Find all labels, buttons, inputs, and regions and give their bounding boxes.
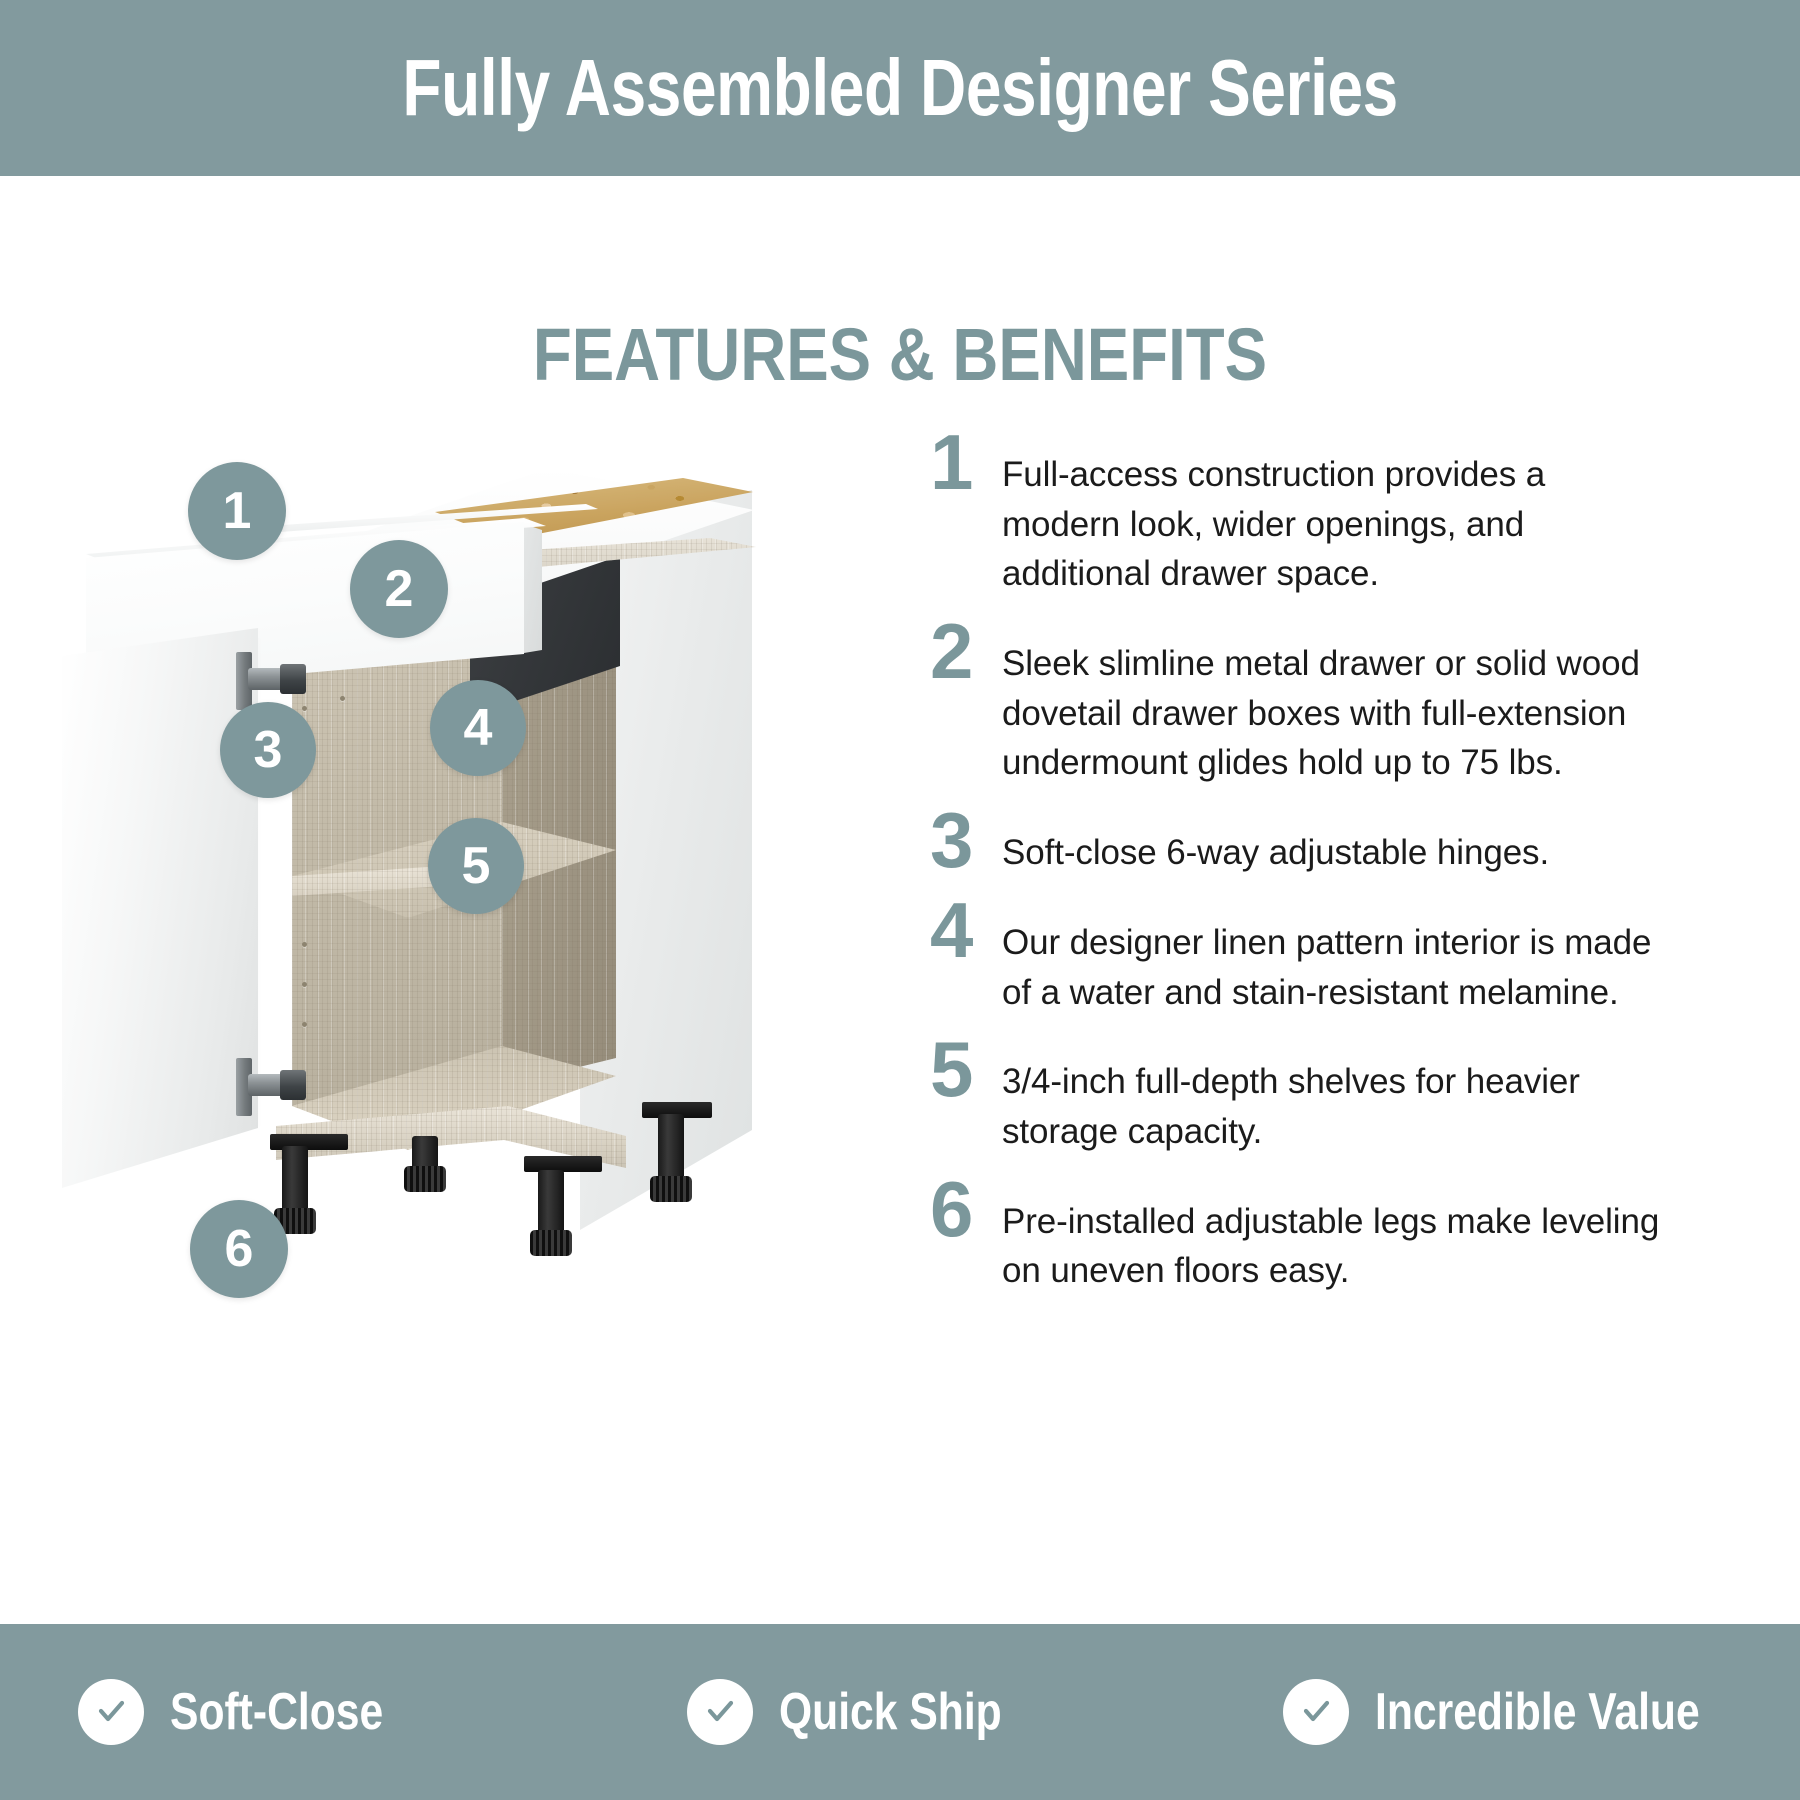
page-title: Fully Assembled Designer Series [402,48,1397,128]
leg-collar [404,1166,446,1192]
hinge-cup [280,1070,306,1100]
feature-number-3: 3 [930,806,1002,875]
feature-item-6: 6 Pre-installed adjustable legs make lev… [930,1179,1670,1296]
callout-badge-4[interactable]: 4 [430,680,526,776]
feature-item-3: 3 Soft-close 6-way adjustable hinges. [930,810,1670,878]
feature-item-5: 5 3/4-inch full-depth shelves for heavie… [930,1039,1670,1156]
footer-bar: Soft-Close Quick Ship Incredible Value [0,1624,1800,1800]
feature-item-1: 1 Full-access construction provides a mo… [930,432,1670,599]
feature-text-5: 3/4-inch full-depth shelves for heavier … [1002,1039,1670,1156]
section-heading: FEATURES & BENEFITS [126,318,1674,392]
feature-item-4: 4 Our designer linen pattern interior is… [930,900,1670,1017]
shelf-pin-hole [302,706,307,711]
footer-badge-incredible-value: Incredible Value [1203,1679,1800,1745]
feature-text-6: Pre-installed adjustable legs make level… [1002,1179,1670,1296]
header-bar: Fully Assembled Designer Series [0,0,1800,176]
main-content: 1 2 3 4 5 6 1 Full-access construction p… [0,420,1800,1600]
footer-badge-soft-close: Soft-Close [0,1679,595,1745]
feature-text-4: Our designer linen pattern interior is m… [1002,900,1670,1017]
features-list: 1 Full-access construction provides a mo… [930,432,1670,1318]
leg-bracket [524,1156,602,1172]
footer-label-quick-ship: Quick Ship [779,1686,1002,1738]
footer-badge-quick-ship: Quick Ship [595,1679,1204,1745]
feature-item-2: 2 Sleek slimline metal drawer or solid w… [930,621,1670,788]
callout-badge-3[interactable]: 3 [220,702,316,798]
feature-number-2: 2 [930,617,1002,686]
feature-text-2: Sleek slimline metal drawer or solid woo… [1002,621,1670,788]
shelf-pin-hole [302,942,307,947]
callout-badge-6[interactable]: 6 [190,1200,288,1298]
callout-badge-5[interactable]: 5 [428,818,524,914]
hinge-cup [280,664,306,694]
feature-number-6: 6 [930,1175,1002,1244]
check-circle-icon [78,1679,144,1745]
leg-collar [530,1230,572,1256]
feature-number-1: 1 [930,428,1002,497]
footer-label-incredible-value: Incredible Value [1375,1686,1700,1738]
feature-number-4: 4 [930,896,1002,965]
callout-badge-1[interactable]: 1 [188,462,286,560]
leg-collar [650,1176,692,1202]
check-circle-icon [687,1679,753,1745]
shelf-pin-hole [302,982,307,987]
feature-text-1: Full-access construction provides a mode… [1002,432,1670,599]
product-illustration: 1 2 3 4 5 6 [40,430,840,1330]
shelf-pin-hole [302,1022,307,1027]
cabinet-door [62,628,258,1188]
shelf-pin-hole [340,696,345,701]
callout-badge-2[interactable]: 2 [350,540,448,638]
footer-label-soft-close: Soft-Close [170,1686,383,1738]
feature-number-5: 5 [930,1035,1002,1104]
feature-text-3: Soft-close 6-way adjustable hinges. [1002,810,1549,878]
check-circle-icon [1283,1679,1349,1745]
